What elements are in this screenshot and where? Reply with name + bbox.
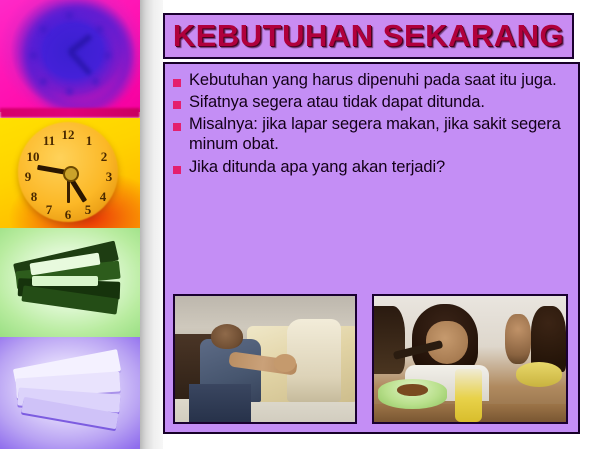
square-bullet-icon <box>173 79 181 87</box>
clock-numeral: 2 <box>97 150 111 163</box>
list-item-label: Sifatnya segera atau tidak dapat ditunda… <box>189 92 576 112</box>
books-purple-panel <box>0 337 140 449</box>
list-item: Kebutuhan yang harus dipenuhi pada saat … <box>171 70 576 90</box>
foreground-child-shape <box>374 306 405 374</box>
food-shape <box>397 384 428 395</box>
clock-numeral: 3 <box>102 170 116 183</box>
clock-yellow-panel: 12 1 2 3 4 5 6 7 8 9 10 11 <box>0 118 140 228</box>
bottle-shape <box>455 369 482 422</box>
square-bullet-icon <box>173 123 181 131</box>
clock-numeral: 6 <box>61 208 75 221</box>
background-bowl-shape <box>516 362 562 387</box>
clock-tick <box>96 26 103 33</box>
list-item: Jika ditunda apa yang akan terjadi? <box>171 157 576 177</box>
clock-tick <box>30 52 37 59</box>
clock-tick <box>40 78 47 85</box>
clock-tick <box>40 26 47 33</box>
page-title: KEBUTUHAN SEKARANG <box>173 18 564 54</box>
list-item: Misalnya: jika lapar segera makan, jika … <box>171 114 576 154</box>
crimson-divider-band <box>0 108 140 118</box>
patient-legs-shape <box>189 384 250 422</box>
patient-head-shape <box>211 324 243 349</box>
square-bullet-icon <box>173 166 181 174</box>
clock-numeral: 9 <box>21 170 35 183</box>
clock-tick <box>66 88 73 95</box>
list-item-label: Jika ditunda apa yang akan terjadi? <box>189 157 576 177</box>
photo-eating-scene <box>374 296 566 422</box>
clock-tick <box>92 78 99 85</box>
clock-numeral: 11 <box>42 134 56 147</box>
list-item: Sifatnya segera atau tidak dapat ditunda… <box>171 92 576 112</box>
clock-numeral: 8 <box>27 190 41 203</box>
clock-numeral: 4 <box>96 190 110 203</box>
book-page-shape <box>32 276 98 286</box>
clock-numeral: 10 <box>26 150 40 163</box>
clock-center-pin <box>63 166 79 182</box>
square-bullet-icon <box>173 101 181 109</box>
decorative-image-strip: 12 1 2 3 4 5 6 7 8 9 10 11 <box>0 0 140 449</box>
photo-injection <box>173 294 357 424</box>
clock-tick <box>66 12 73 19</box>
slide-gutter <box>140 0 163 449</box>
slide-title-box: KEBUTUHAN SEKARANG <box>163 13 574 59</box>
clock-numeral: 1 <box>82 134 96 147</box>
list-item-label: Misalnya: jika lapar segera makan, jika … <box>189 114 576 154</box>
background-child-shape <box>505 314 532 364</box>
clock-tick <box>104 52 111 59</box>
nurse-hand-shape <box>274 354 296 372</box>
clock-numeral: 5 <box>81 203 95 216</box>
photo-injection-scene <box>175 296 355 422</box>
presentation-slide: 12 1 2 3 4 5 6 7 8 9 10 11 <box>0 0 600 449</box>
bullet-list: Kebutuhan yang harus dipenuhi pada saat … <box>171 70 576 179</box>
clock-numeral: 12 <box>61 128 75 141</box>
photo-eating <box>372 294 568 424</box>
list-item-label: Kebutuhan yang harus dipenuhi pada saat … <box>189 70 576 90</box>
clock-magenta-panel <box>0 0 140 112</box>
books-green-panel <box>0 228 140 337</box>
clock-numeral: 7 <box>42 203 56 216</box>
